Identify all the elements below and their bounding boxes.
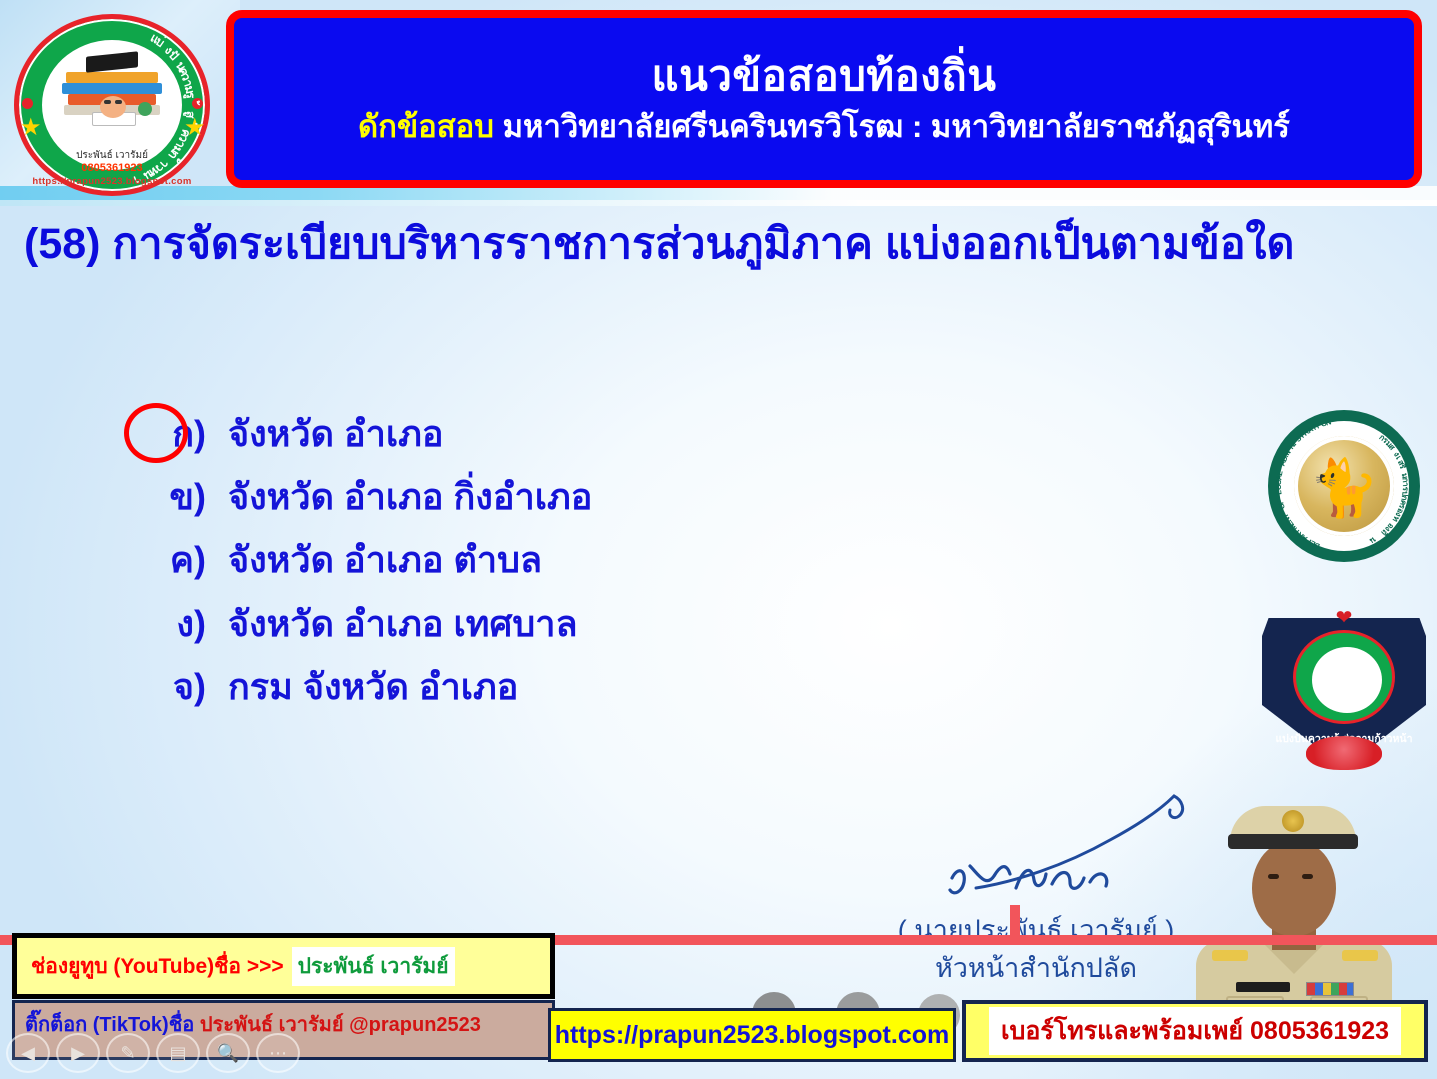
- youtube-info-box[interactable]: ช่องยูทูบ (YouTube)ชื่อ >>> ประพันธ์ เวา…: [12, 933, 555, 999]
- logo-owner-name: ประพันธ์ เวารัมย์: [6, 148, 218, 163]
- phone-info-box[interactable]: เบอร์โทรและพร้อมเพย์ 0805361923: [962, 1000, 1428, 1062]
- choice-label: จังหวัด อำเภอ ตำบล: [228, 538, 542, 581]
- cap-badge-icon: [1282, 810, 1304, 832]
- choice-label: จังหวัด อำเภอ: [228, 412, 444, 455]
- cap-visor: [1228, 834, 1358, 849]
- brand-logo: ★ ★ แบ่งปันความรู้สู่ความก้าวหน้า ประพัน…: [6, 12, 218, 198]
- question-text: (58) การจัดระเบียบบริหารราชการส่วนภูมิภา…: [24, 214, 1394, 275]
- signature-block: ( นายประพันธ์ เวารัมย์ ) หัวหน้าสำนักปลั…: [846, 770, 1226, 980]
- choice-key: ก): [120, 412, 228, 455]
- shield-emblem-circle: [1293, 630, 1395, 724]
- youtube-channel-name: ประพันธ์ เวารัมย์: [292, 947, 455, 986]
- choice-option-e[interactable]: จ) กรม จังหวัด อำเภอ: [120, 665, 1020, 708]
- slide-canvas: ★ ★ แบ่งปันความรู้สู่ความก้าวหน้า ประพัน…: [0, 0, 1437, 1079]
- choice-option-b[interactable]: ข) จังหวัด อำเภอ กิ่งอำเภอ: [120, 475, 1020, 518]
- logo-url: https://prapun2523.blogspot.com: [6, 176, 218, 187]
- choice-key: ง): [120, 602, 228, 645]
- heart-icon: ❤: [1336, 608, 1353, 628]
- header-subtitle-rest: มหาวิทยาลัยศรีนครินทรวิโรฒ : มหาวิทยาลัย…: [503, 109, 1290, 144]
- choice-key: จ): [120, 665, 228, 708]
- previous-slide-icon[interactable]: ◀: [6, 1033, 50, 1073]
- header-banner: แนวข้อสอบท้องถิ่น ดักข้อสอบ มหาวิทยาลัยศ…: [226, 10, 1422, 188]
- youtube-label: ช่องยูทูบ (YouTube)ชื่อ >>>: [31, 950, 284, 983]
- name-tag: [1236, 982, 1290, 992]
- eye-right: [1302, 874, 1313, 879]
- background-accent-band-secondary: [0, 200, 1437, 206]
- service-ribbon: [1306, 982, 1354, 996]
- choice-key: ข): [120, 475, 228, 518]
- blog-url-box[interactable]: https://prapun2523.blogspot.com: [548, 1008, 956, 1062]
- next-slide-icon[interactable]: ▶: [56, 1033, 100, 1073]
- choice-list: ก) จังหวัด อำเภอ ข) จังหวัด อำเภอ กิ่งอำ…: [120, 412, 1020, 728]
- choice-key: ค): [120, 538, 228, 581]
- choice-option-a[interactable]: ก) จังหวัด อำเภอ: [120, 412, 1020, 455]
- slideshow-controls[interactable]: ◀ ▶ ✎ ▤ 🔍 ⋯: [6, 1030, 306, 1076]
- all-slides-icon[interactable]: ▤: [156, 1033, 200, 1073]
- header-subtitle-highlight: ดักข้อสอบ: [358, 109, 494, 144]
- zoom-tool-icon[interactable]: 🔍: [206, 1033, 250, 1073]
- phone-text: เบอร์โทรและพร้อมเพย์ 0805361923: [989, 1007, 1401, 1055]
- choice-label: จังหวัด อำเภอ เทศบาล: [228, 602, 578, 645]
- choice-label: จังหวัด อำเภอ กิ่งอำเภอ: [228, 475, 592, 518]
- shield-emblem-inner: [1312, 647, 1382, 713]
- epaulette-right: [1342, 950, 1378, 961]
- eye-left: [1268, 874, 1279, 879]
- choice-option-c[interactable]: ค) จังหวัด อำเภอ ตำบล: [120, 538, 1020, 581]
- more-options-icon[interactable]: ⋯: [256, 1033, 300, 1073]
- epaulette-left: [1212, 950, 1248, 961]
- logo-phone: 0805361923: [6, 162, 218, 174]
- shield-badge-icon: ❤ แบ่งปันความรู้ สู่ความก้าวหน้า: [1262, 608, 1426, 776]
- choice-label: กรม จังหวัด อำเภอ: [228, 665, 518, 708]
- blog-url-text: https://prapun2523.blogspot.com: [555, 1021, 949, 1050]
- department-of-local-administration-seal-icon: 🐈 DEPARTMENT OF LOCAL ADMINISTRATION กรม…: [1268, 410, 1420, 562]
- seal-arc-text-thai: กรมส่งเสริมการปกครองท้องถิ่น: [1268, 410, 1420, 562]
- header-title: แนวข้อสอบท้องถิ่น: [652, 54, 997, 98]
- signer-role: หัวหน้าสำนักปลัด: [846, 946, 1226, 989]
- shield-hearts-photo: [1306, 736, 1382, 770]
- header-subtitle: ดักข้อสอบ มหาวิทยาลัยศรีนครินทรวิโรฒ : ม…: [358, 110, 1290, 144]
- choice-option-d[interactable]: ง) จังหวัด อำเภอ เทศบาล: [120, 602, 1020, 645]
- handwritten-signature-icon: [874, 770, 1204, 910]
- face: [1252, 840, 1336, 936]
- pen-tool-icon[interactable]: ✎: [106, 1033, 150, 1073]
